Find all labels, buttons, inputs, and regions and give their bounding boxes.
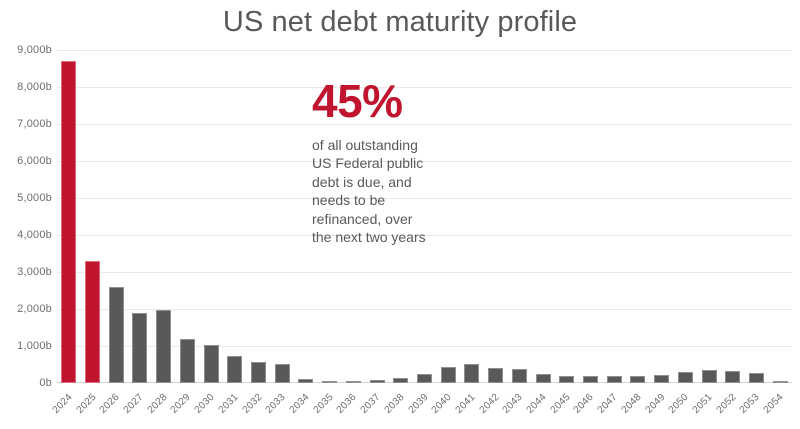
x-axis-tick-label: 2051: [691, 392, 715, 416]
y-axis-tick-label: 8,000b: [17, 81, 52, 93]
bar-2051: [702, 370, 717, 383]
chart-title: US net debt maturity profile: [0, 6, 800, 39]
y-axis-tick-label: 1,000b: [17, 340, 52, 352]
bar-2043: [512, 369, 527, 383]
y-axis-tick-label: 6,000b: [17, 155, 52, 167]
x-axis-tick-label: 2025: [74, 392, 98, 416]
x-axis-tick-label: 2035: [311, 392, 335, 416]
x-axis-tick-label: 2040: [430, 392, 454, 416]
annotation-callout: 45% of all outstandingUS Federal publicd…: [312, 78, 512, 247]
y-axis-tick-label: 4,000b: [17, 229, 52, 241]
bar-2052: [725, 371, 740, 383]
x-axis-tick-label: 2028: [145, 392, 169, 416]
bar-2036: [346, 381, 361, 383]
annotation-line: the next two years: [312, 228, 512, 246]
bar-2028: [156, 310, 171, 383]
x-axis-tick-label: 2038: [382, 392, 406, 416]
annotation-line: of all outstanding: [312, 136, 512, 154]
y-axis-tick-label: 2,000b: [17, 303, 52, 315]
x-axis-tick-label: 2030: [193, 392, 217, 416]
bar-2027: [132, 313, 147, 383]
bar-2038: [393, 378, 408, 383]
x-axis-tick-label: 2048: [619, 392, 643, 416]
bar-2040: [441, 367, 456, 383]
y-axis-tick-label: 3,000b: [17, 266, 52, 278]
x-axis-tick-label: 2032: [240, 392, 264, 416]
x-axis-tick-label: 2049: [643, 392, 667, 416]
bar-2034: [298, 379, 313, 383]
bar-2042: [488, 368, 503, 383]
x-axis-tick-label: 2041: [454, 392, 478, 416]
gridline: [57, 50, 792, 51]
x-axis-tick-label: 2053: [738, 392, 762, 416]
y-axis-tick-label: 0b: [39, 377, 52, 389]
bar-2046: [583, 376, 598, 383]
bar-2048: [630, 376, 645, 383]
annotation-line: needs to be: [312, 191, 512, 209]
x-axis: 2024202520262027202820292030203120322033…: [57, 384, 792, 429]
x-axis-tick-label: 2024: [50, 392, 74, 416]
bar-2039: [417, 374, 432, 383]
bar-2037: [370, 380, 385, 383]
bar-2049: [654, 375, 669, 384]
y-axis-tick-label: 9,000b: [17, 44, 52, 56]
x-axis-tick-label: 2044: [525, 392, 549, 416]
bar-2050: [678, 372, 693, 383]
x-axis-tick-label: 2037: [359, 392, 383, 416]
bar-2054: [773, 381, 788, 383]
annotation-line: debt is due, and: [312, 173, 512, 191]
bar-2044: [536, 374, 551, 383]
bar-2033: [275, 364, 290, 383]
annotation-line: US Federal public: [312, 154, 512, 172]
annotation-body: of all outstandingUS Federal publicdebt …: [312, 136, 512, 247]
bar-2035: [322, 381, 337, 383]
x-axis-tick-label: 2029: [169, 392, 193, 416]
bar-2030: [204, 345, 219, 383]
bar-2045: [559, 376, 574, 383]
bar-2053: [749, 373, 764, 383]
x-axis-tick-label: 2052: [714, 392, 738, 416]
x-axis-tick-label: 2036: [335, 392, 359, 416]
bar-2026: [109, 287, 124, 383]
y-axis: 9,000b8,000b7,000b6,000b5,000b4,000b3,00…: [0, 50, 52, 383]
x-axis-tick-label: 2054: [762, 392, 786, 416]
x-axis-tick-label: 2050: [667, 392, 691, 416]
x-axis-tick-label: 2043: [501, 392, 525, 416]
bar-2041: [464, 364, 479, 383]
bar-2029: [180, 339, 195, 383]
x-axis-tick-label: 2033: [264, 392, 288, 416]
bar-2024: [61, 61, 76, 383]
gridline: [57, 272, 792, 273]
bar-2025: [85, 261, 100, 383]
x-axis-tick-label: 2026: [98, 392, 122, 416]
bar-2031: [227, 356, 242, 383]
x-axis-tick-label: 2045: [548, 392, 572, 416]
annotation-stat: 45%: [312, 78, 512, 124]
y-axis-tick-label: 7,000b: [17, 118, 52, 130]
x-axis-tick-label: 2034: [288, 392, 312, 416]
x-axis-tick-label: 2046: [572, 392, 596, 416]
x-axis-tick-label: 2039: [406, 392, 430, 416]
chart-container: US net debt maturity profile 9,000b8,000…: [0, 0, 800, 429]
bar-2032: [251, 362, 266, 383]
annotation-line: refinanced, over: [312, 210, 512, 228]
bar-2047: [607, 376, 622, 383]
y-axis-tick-label: 5,000b: [17, 192, 52, 204]
x-axis-tick-label: 2042: [477, 392, 501, 416]
x-axis-tick-label: 2047: [596, 392, 620, 416]
x-axis-tick-label: 2027: [122, 392, 146, 416]
x-axis-tick-label: 2031: [216, 392, 240, 416]
